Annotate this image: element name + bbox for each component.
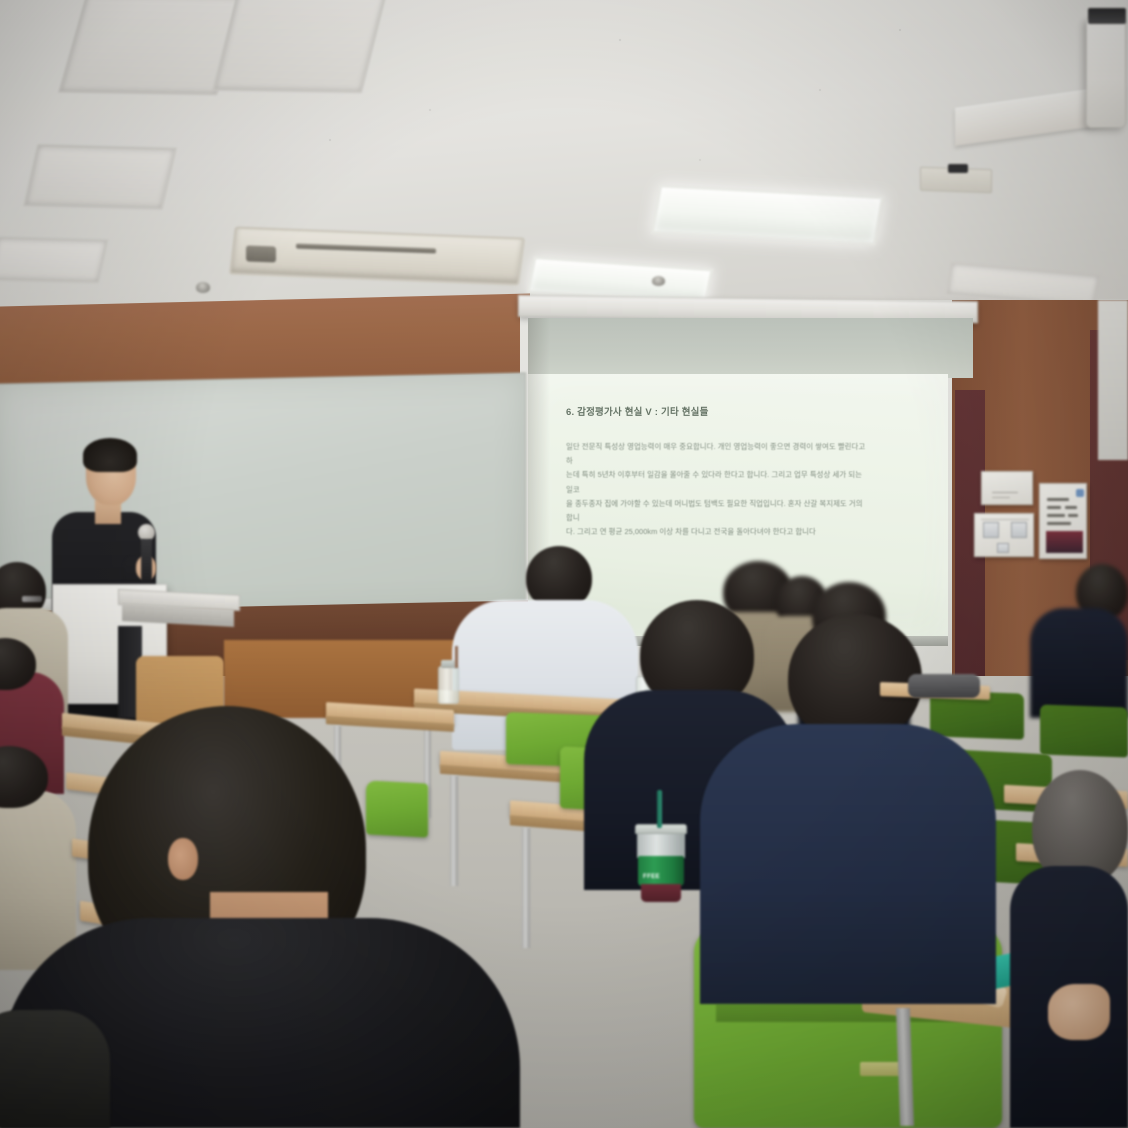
poster-icon-box (983, 522, 999, 538)
cup-bottom-dark (641, 884, 681, 902)
screen-upper-band (528, 318, 973, 378)
audience-body-navy (700, 724, 996, 1004)
chair (366, 780, 428, 837)
sprinkler-head-1 (196, 282, 210, 293)
slide-body-line: 을 종두종자 집에 가야할 수 있는데 머니법도 텀백도 필요한 직업입니다. … (566, 497, 866, 525)
audience-glasses (22, 596, 42, 602)
slide-body: 일단 전문직 특성상 영업능력이 매우 중요합니다. 개인 영업능력이 좋으면 … (566, 440, 866, 540)
right-wall-white-column (1098, 300, 1128, 460)
bottle-cap (441, 660, 456, 668)
poster-divider (981, 519, 1029, 520)
lecture-hall-photo: 6. 감정평가사 현실 V : 기타 현실들 일단 전문직 특성상 영업능력이 … (0, 0, 1128, 1128)
left-wall-wood-upper (0, 294, 530, 387)
poster-text-line (1047, 506, 1061, 509)
ac-corner-grille (246, 245, 276, 262)
foreground-person-ear (168, 838, 198, 880)
ceiling-panel-4 (0, 237, 108, 284)
notice-sheet-bottom (974, 513, 1034, 557)
desk-leg (522, 828, 530, 948)
notice-poster-right (1039, 483, 1087, 559)
projector-top-cap (1088, 8, 1126, 24)
ceiling-projector (1086, 18, 1126, 128)
chair (1040, 704, 1128, 757)
poster-text-line (1065, 506, 1077, 509)
audience-hand-right (1048, 984, 1110, 1040)
audience-head-navy (788, 614, 922, 742)
ceiling-panel-3 (23, 144, 176, 210)
slide-heading: 6. 감정평가사 현실 V : 기타 현실들 (566, 404, 866, 418)
poster-text-line (992, 497, 1010, 498)
cup-brand-label: FFEE (643, 874, 660, 880)
audience-body (1030, 608, 1128, 718)
cup-upper-clear (637, 830, 685, 858)
microphone-body (141, 539, 152, 583)
poster-text-line (1047, 514, 1065, 517)
water-bottle (438, 666, 459, 704)
poster-image (1046, 531, 1083, 553)
poster-text-line (992, 492, 1018, 493)
cup-green-band: FFEE (638, 856, 684, 886)
cup-straw (657, 790, 662, 828)
speaker-hair (83, 438, 137, 472)
sprinkler-head-2 (652, 276, 665, 286)
slide-body-line: 일단 전문직 특성상 영업능력이 매우 중요합니다. 개인 영업능력이 좋으면 … (566, 440, 866, 468)
poster-text-line (1047, 522, 1071, 525)
desk-leg (450, 776, 458, 886)
poster-text-line (1047, 498, 1069, 501)
bottle-straw (455, 646, 458, 668)
slide-body-line: 는데 특히 5년차 이후부터 일감을 몰아줄 수 있다라 한다고 합니다. 그리… (566, 468, 866, 496)
chair-label-plate (860, 1062, 902, 1076)
poster-text-line (1068, 514, 1078, 517)
audience-body-khaki-left (0, 790, 76, 970)
poster-icon-box (997, 543, 1009, 553)
bag-on-desk (908, 674, 980, 698)
foreground-person-left-edge (0, 1010, 110, 1128)
poster-logo (1076, 489, 1084, 497)
projector-bracket-stud (948, 164, 968, 173)
coffee-cup: FFEE (633, 812, 689, 898)
ceiling-panel-2 (213, 0, 388, 93)
slide-body-line: 다. 그리고 연 평균 25,000km 이상 차를 다니고 전국을 돌아다녀야… (566, 525, 866, 539)
poster-icon-box (1011, 522, 1027, 538)
slide-content: 6. 감정평가사 현실 V : 기타 현실들 일단 전문직 특성상 영업능력이 … (566, 404, 866, 540)
notice-sheet-top (981, 471, 1033, 505)
